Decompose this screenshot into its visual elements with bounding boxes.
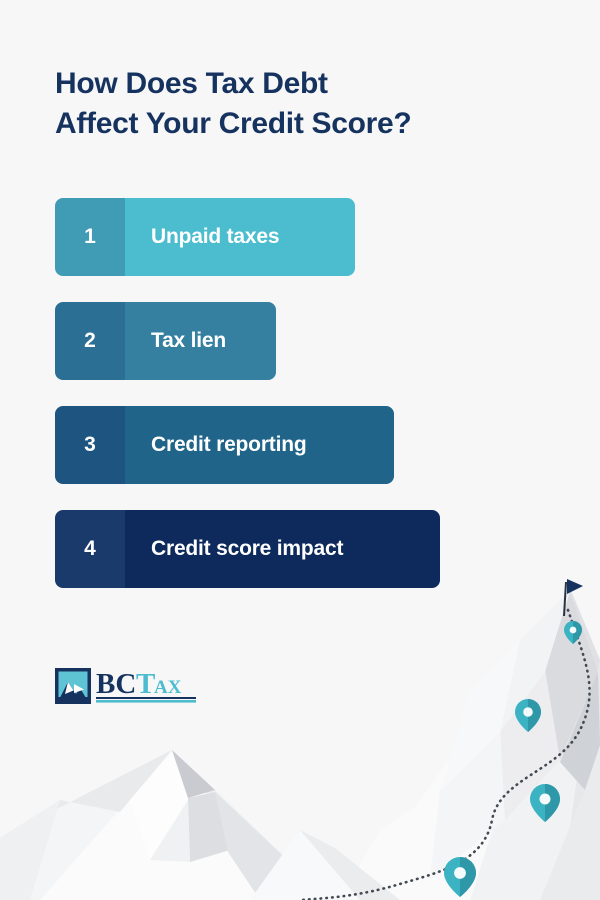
brand-logo-text: BC T AX <box>96 668 201 704</box>
step-label-2: Tax lien <box>125 302 276 380</box>
step-number-2: 2 <box>55 302 125 380</box>
step-item-4[interactable]: 4 Credit score impact <box>55 510 440 588</box>
page-title: How Does Tax Debt Affect Your Credit Sco… <box>55 64 411 144</box>
steps-list: 1 Unpaid taxes 2 Tax lien 3 Credit repor… <box>55 198 440 614</box>
step-label-4: Credit score impact <box>125 510 440 588</box>
trail-pin-upper <box>515 699 541 732</box>
step-label-3: Credit reporting <box>125 406 394 484</box>
step-label-1: Unpaid taxes <box>125 198 355 276</box>
step-item-1[interactable]: 1 Unpaid taxes <box>55 198 355 276</box>
step-number-3: 3 <box>55 406 125 484</box>
step-number-4: 4 <box>55 510 125 588</box>
step-item-2[interactable]: 2 Tax lien <box>55 302 276 380</box>
trail-path <box>300 610 590 900</box>
trail-pin-middle <box>530 784 560 822</box>
mountain-left <box>0 750 330 900</box>
brand-logo[interactable]: BC T AX <box>55 668 201 704</box>
infographic-canvas: How Does Tax Debt Affect Your Credit Sco… <box>0 0 600 900</box>
logo-t-text: T <box>136 668 155 700</box>
logo-ax-text: AX <box>154 677 182 698</box>
mountain-far-right <box>250 830 400 900</box>
summit-flag-icon <box>564 579 583 616</box>
step-number-1: 1 <box>55 198 125 276</box>
step-item-3[interactable]: 3 Credit reporting <box>55 406 394 484</box>
mountain-right <box>340 588 600 900</box>
trail-pin-summit <box>564 621 582 644</box>
logo-bc-text: BC <box>96 668 136 700</box>
trail-pin-base <box>444 857 476 897</box>
mountain-logo-icon <box>55 668 91 704</box>
